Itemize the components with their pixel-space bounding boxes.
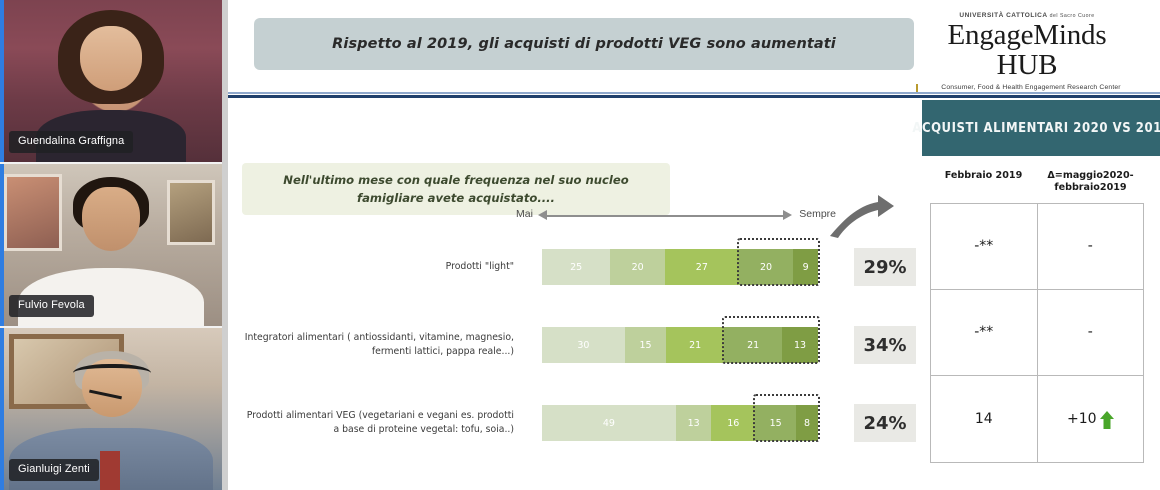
scale-arrow-left-icon xyxy=(538,210,547,220)
section-banner-label: ACQUISTI ALIMENTARI 2020 VS 2019 xyxy=(912,121,1160,136)
avatar-face-2 xyxy=(82,187,140,252)
presentation-slide: Rispetto al 2019, gli acquisti di prodot… xyxy=(228,0,1160,490)
comparison-table-header: Febbraio 2019 Δ=maggio2020-febbraio2019 xyxy=(930,170,1144,203)
active-speaker-accent-1 xyxy=(0,0,4,162)
total-percentage-badge: 24% xyxy=(854,404,916,442)
table-row: -**- xyxy=(931,204,1143,290)
chart-row: Prodotti alimentari VEG (vegetariani e v… xyxy=(242,400,932,446)
question-text: Nell'ultimo mese con quale frequenza nel… xyxy=(283,173,628,205)
video-tile-participant-1[interactable]: Guendalina Graffigna xyxy=(0,0,222,164)
video-tile-participant-2[interactable]: Fulvio Fevola xyxy=(0,164,222,328)
frequency-scale-axis: Mai Sempre xyxy=(516,207,836,225)
active-speaker-accent-3 xyxy=(0,328,4,490)
scale-arrow-right-icon xyxy=(783,210,792,220)
column-header-delta: Δ=maggio2020-febbraio2019 xyxy=(1037,170,1144,203)
bar-segment-a-volte: 21 xyxy=(666,327,724,363)
chart-row-label: Integratori alimentari ( antiossidanti, … xyxy=(242,331,528,359)
cell-delta: - xyxy=(1038,290,1144,375)
engageminds-logo: UNIVERSITÀ CATTOLICA del Sacro Cuore Eng… xyxy=(916,12,1138,91)
logo-brand: EngageMinds HUB xyxy=(916,20,1138,81)
bar-segment-mai: 25 xyxy=(542,249,610,285)
logo-tagline: Consumer, Food & Health Engagement Resea… xyxy=(916,84,1138,91)
comparison-table-body: -**--**-14+10 xyxy=(930,203,1144,463)
bar-segment-raramente: 13 xyxy=(676,405,712,441)
bar-segment-spesso: 21 xyxy=(724,327,782,363)
curved-arrow-icon xyxy=(826,192,896,238)
video-tile-participant-3[interactable]: Gianluigi Zenti xyxy=(0,328,222,490)
chart-row: Integratori alimentari ( antiossidanti, … xyxy=(242,322,932,368)
bar-segment-spesso: 15 xyxy=(755,405,796,441)
cell-delta: +10 xyxy=(1038,376,1144,462)
cell-delta-value: - xyxy=(1088,238,1093,254)
bar-segment-raramente: 20 xyxy=(610,249,665,285)
wall-art-left xyxy=(4,174,62,252)
bar-segment-mai: 30 xyxy=(542,327,625,363)
active-speaker-accent-2 xyxy=(0,164,4,326)
avatar-face-1 xyxy=(80,26,142,91)
total-percentage-badge: 34% xyxy=(854,326,916,364)
cell-febbraio-2019: 14 xyxy=(931,376,1038,462)
stacked-bar: 491316158 xyxy=(542,405,818,441)
cell-febbraio-2019: -** xyxy=(931,290,1038,375)
bar-segment-mai: 49 xyxy=(542,405,676,441)
video-participant-rail: Guendalina Graffigna Fulvio Fevola Gianl… xyxy=(0,0,222,490)
participant-name-label: Gianluigi Zenti xyxy=(9,459,99,481)
slide-title-banner: Rispetto al 2019, gli acquisti di prodot… xyxy=(254,18,914,70)
logo-university-name: UNIVERSITÀ CATTOLICA xyxy=(959,12,1049,19)
bar-segment-raramente: 15 xyxy=(625,327,666,363)
participant-name-label: Fulvio Fevola xyxy=(9,295,94,317)
wall-art-right xyxy=(167,180,216,245)
divider-line-dark xyxy=(228,95,1160,98)
stacked-bar: 3015212113 xyxy=(542,327,818,363)
column-header-febbraio-2019: Febbraio 2019 xyxy=(930,170,1037,203)
scale-label-low: Mai xyxy=(516,208,533,220)
section-banner: ACQUISTI ALIMENTARI 2020 VS 2019 xyxy=(922,100,1160,156)
table-row: -**- xyxy=(931,290,1143,376)
cell-febbraio-2019: -** xyxy=(931,204,1038,289)
stacked-bar: 252027209 xyxy=(542,249,818,285)
bar-segment-a-volte: 16 xyxy=(711,405,755,441)
comparison-table: Febbraio 2019 Δ=maggio2020-febbraio2019 … xyxy=(930,170,1144,463)
cell-delta-value: +10 xyxy=(1067,411,1097,427)
chart-row-label: Prodotti "light" xyxy=(242,260,528,274)
cell-delta: - xyxy=(1038,204,1144,289)
shared-screen-stage: Rispetto al 2019, gli acquisti di prodot… xyxy=(222,0,1160,490)
divider-line-light xyxy=(228,92,1160,94)
trend-up-arrow-icon xyxy=(1100,411,1114,429)
total-percentage-badge: 29% xyxy=(854,248,916,286)
avatar-tie-3 xyxy=(100,451,120,490)
cell-delta-value: - xyxy=(1088,324,1093,340)
bar-segment-sempre: 8 xyxy=(796,405,818,441)
bar-segment-a-volte: 27 xyxy=(665,249,739,285)
logo-university-line: UNIVERSITÀ CATTOLICA del Sacro Cuore xyxy=(916,12,1138,19)
chart-row: Prodotti "light"25202720929% xyxy=(242,244,932,290)
participant-name-label: Guendalina Graffigna xyxy=(9,131,133,153)
header-divider xyxy=(228,92,1160,99)
bar-segment-sempre: 9 xyxy=(793,249,818,285)
scale-axis-line xyxy=(546,215,784,217)
screen: Guendalina Graffigna Fulvio Fevola Gianl… xyxy=(0,0,1160,490)
table-row: 14+10 xyxy=(931,376,1143,462)
bar-segment-sempre: 13 xyxy=(782,327,818,363)
slide-title: Rispetto al 2019, gli acquisti di prodot… xyxy=(332,36,836,52)
chart-row-label: Prodotti alimentari VEG (vegetariani e v… xyxy=(242,409,528,437)
bar-segment-spesso: 20 xyxy=(739,249,794,285)
